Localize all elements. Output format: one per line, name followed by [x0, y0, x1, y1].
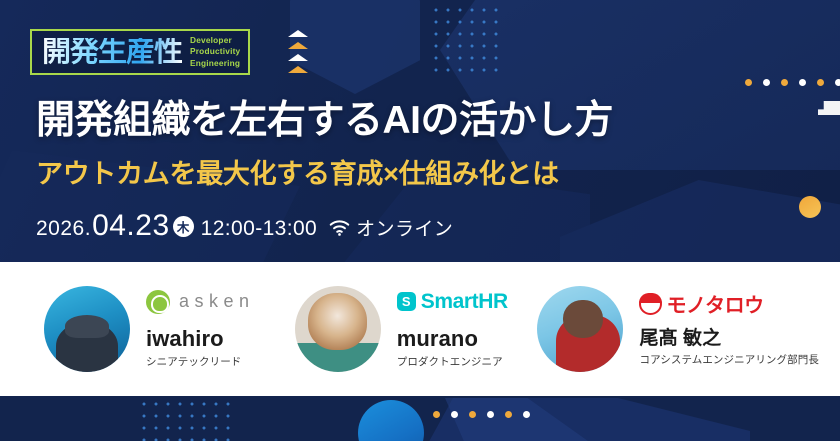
avatar — [537, 286, 623, 372]
dot — [505, 411, 512, 418]
chevron-stack-decoration — [288, 30, 312, 78]
speaker-info: S SmartHR murano プロダクトエンジニア — [397, 289, 508, 369]
speaker-card-odaka: モノタロウ 尾髙 敏之 コアシステムエンジニアリング部門長 — [537, 286, 822, 372]
dpe-badge-en-line2: Productivity — [190, 46, 240, 57]
step-shape-decoration — [818, 101, 840, 115]
sub-headline: アウトカムを最大化する育成×仕組み化とは — [36, 158, 559, 190]
dot-row-top-right — [745, 79, 840, 86]
dpe-badge-en-title: Developer Productivity Engineering — [190, 35, 240, 69]
avatar — [44, 286, 130, 372]
speaker-card-iwahiro: asken iwahiro シニアテックリード — [44, 286, 295, 372]
dpe-logo-badge: 開発生産性 Developer Productivity Engineering — [30, 29, 250, 75]
speaker-role: シニアテックリード — [146, 354, 255, 369]
dpe-badge-en-line3: Engineering — [190, 58, 240, 69]
speaker-name: murano — [397, 327, 508, 350]
dot-grid-top — [430, 4, 504, 80]
dot — [835, 79, 840, 86]
dot — [487, 411, 494, 418]
monotaro-mark-icon — [639, 293, 662, 315]
dot-row-bottom — [433, 411, 530, 418]
orange-circle-decoration — [799, 196, 821, 218]
webinar-banner: 開発生産性 Developer Productivity Engineering… — [0, 0, 840, 441]
speaker-info: モノタロウ 尾髙 敏之 コアシステムエンジニアリング部門長 — [639, 291, 818, 368]
dot — [763, 79, 770, 86]
dot — [523, 411, 530, 418]
speaker-card-murano: S SmartHR murano プロダクトエンジニア — [295, 286, 538, 372]
asken-logo-icon: asken — [146, 289, 255, 315]
wifi-icon — [329, 220, 350, 241]
speaker-name: iwahiro — [146, 327, 255, 350]
dot — [469, 411, 476, 418]
chevron-up-icon — [288, 30, 308, 37]
dot — [451, 411, 458, 418]
speaker-company: モノタロウ — [666, 289, 763, 318]
chevron-up-icon — [288, 54, 308, 61]
dot — [433, 411, 440, 418]
event-time: 12:00-13:00 — [201, 217, 318, 241]
asken-mark-icon — [146, 290, 170, 314]
speaker-info: asken iwahiro シニアテックリード — [146, 289, 255, 369]
event-day-of-week-badge: 木 — [173, 216, 194, 237]
chevron-up-icon — [288, 42, 308, 49]
speaker-company: asken — [179, 291, 255, 312]
event-year: 2026. — [36, 217, 91, 241]
speaker-role: コアシステムエンジニアリング部門長 — [639, 352, 818, 367]
speaker-company: SmartHR — [421, 290, 508, 314]
smarthr-mark-icon: S — [397, 292, 416, 311]
speaker-name: 尾髙 敏之 — [639, 329, 818, 349]
dot — [781, 79, 788, 86]
smarthr-logo-icon: S SmartHR — [397, 289, 508, 315]
dot — [745, 79, 752, 86]
speakers-list: asken iwahiro シニアテックリード S SmartHR — [0, 262, 840, 396]
dot — [817, 79, 824, 86]
event-format: オンライン — [356, 214, 453, 241]
dpe-badge-en-line1: Developer — [190, 35, 240, 46]
chevron-up-icon — [288, 66, 308, 73]
speakers-band: asken iwahiro シニアテックリード S SmartHR — [0, 262, 840, 396]
main-headline: 開発組織を左右するAIの活かし方 — [36, 99, 613, 143]
monotaro-logo-icon: モノタロウ — [639, 291, 818, 317]
avatar — [295, 286, 381, 372]
event-datetime: 2026. 04.23 木 12:00-13:00 オンライン — [36, 209, 453, 243]
event-month-day: 04.23 — [92, 209, 170, 243]
speaker-role: プロダクトエンジニア — [397, 354, 508, 369]
dot — [799, 79, 806, 86]
dpe-badge-jp-title: 開発生産性 — [42, 38, 182, 67]
